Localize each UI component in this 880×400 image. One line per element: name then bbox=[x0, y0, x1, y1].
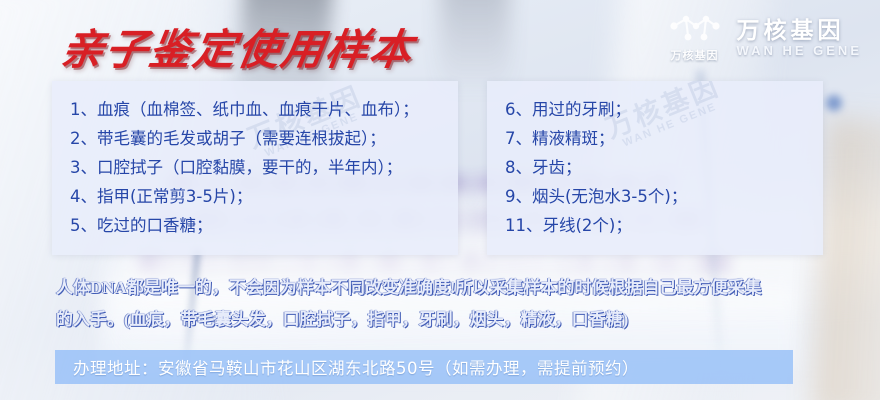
sample-list-left: 1、血痕（血棉签、纸巾血、血痕干片、血布）； 2、带毛囊的毛发或胡子（需要连根拔… bbox=[52, 81, 458, 240]
brand-logo: 万核基因 万核基因 WAN HE GENE bbox=[666, 14, 862, 63]
list-item: 11、牙线(2个)； bbox=[505, 211, 823, 240]
list-item: 1、血痕（血棉签、纸巾血、血痕干片、血布）； bbox=[70, 95, 458, 124]
address-text: 办理地址：安徽省马鞍山市花山区湖东北路50号（如需办理，需提前预约） bbox=[55, 355, 639, 379]
molecule-icon: 万核基因 bbox=[666, 14, 724, 63]
list-item: 8、牙齿； bbox=[505, 153, 823, 182]
list-item: 9、烟头(无泡水3-5个)； bbox=[505, 182, 823, 211]
page-title: 亲子鉴定使用样本 bbox=[57, 16, 419, 77]
sample-list-right: 6、用过的牙刷； 7、精液精斑； 8、牙齿； 9、烟头(无泡水3-5个)； 11… bbox=[487, 81, 823, 240]
list-item: 6、用过的牙刷； bbox=[505, 95, 823, 124]
brand-name-cn: 万核基因 bbox=[737, 18, 845, 44]
paragraph-line-2: 的入手。(血痕，带毛囊头发，口腔拭子，指甲，牙刷，烟头，精液，口香糖) bbox=[56, 304, 846, 336]
list-item: 2、带毛囊的毛发或胡子（需要连根拔起）； bbox=[70, 124, 458, 153]
list-item: 5、吃过的口香糖； bbox=[70, 211, 458, 240]
description-paragraph: 人体DNA都是唯一的，不会因为样本不同改变准确度!所以采集样本的时候根据自己最方… bbox=[56, 272, 846, 336]
sample-list-panel-right: 万核基因 WAN HE GENE 6、用过的牙刷； 7、精液精斑； 8、牙齿； … bbox=[487, 81, 823, 255]
address-bar: 办理地址：安徽省马鞍山市花山区湖东北路50号（如需办理，需提前预约） bbox=[55, 350, 793, 384]
paragraph-line-1: 人体DNA都是唯一的，不会因为样本不同改变准确度!所以采集样本的时候根据自己最方… bbox=[56, 272, 846, 304]
sample-list-panel-left: 万核基因 WAN HE GENE 1、血痕（血棉签、纸巾血、血痕干片、血布）； … bbox=[52, 81, 458, 255]
brand-name-en: WAN HE GENE bbox=[737, 44, 862, 59]
list-item: 4、指甲(正常剪3-5片)； bbox=[70, 182, 458, 211]
logo-mark-label: 万核基因 bbox=[671, 47, 719, 63]
list-item: 3、口腔拭子（口腔黏膜，要干的，半年内）； bbox=[70, 153, 458, 182]
list-item: 7、精液精斑； bbox=[505, 124, 823, 153]
poster-canvas: 亲子鉴定使用样本 bbox=[0, 0, 880, 400]
